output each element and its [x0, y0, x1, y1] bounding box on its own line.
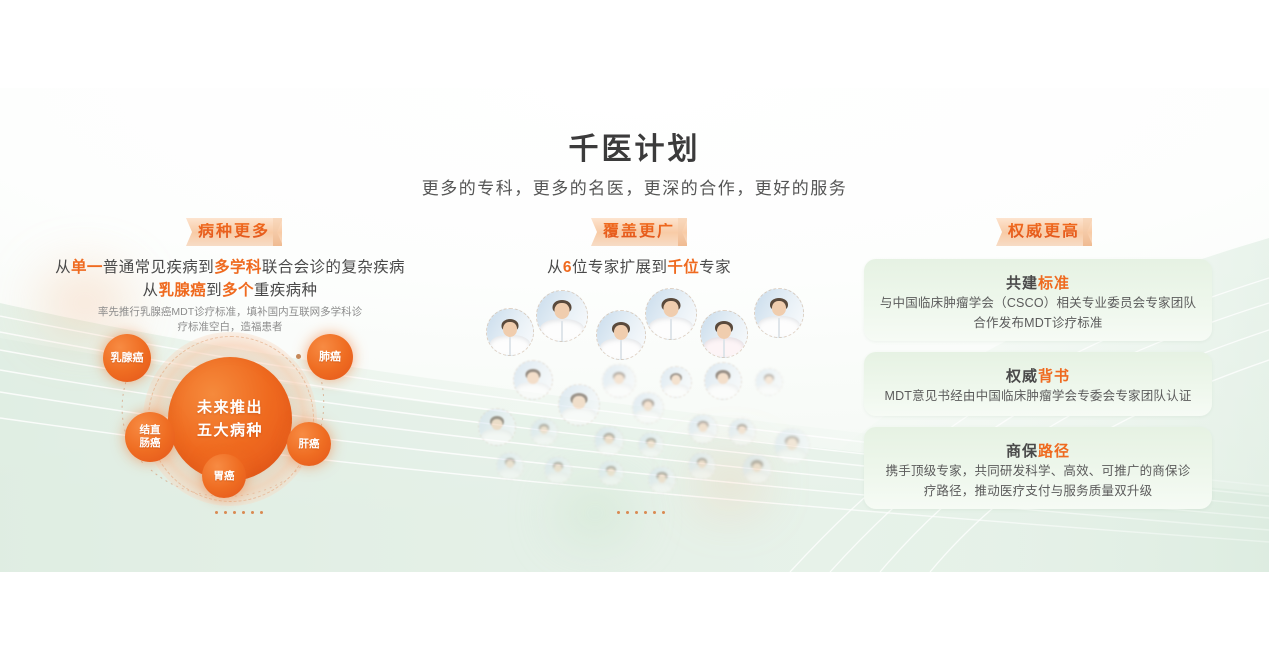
badge-middle: 覆盖更广 [591, 218, 687, 246]
authority-card-standard-title: 共建标准 [864, 272, 1212, 293]
middle-hl-part3: 专家 [699, 259, 731, 276]
disease-node-liver-cancer-label: 肝癌 [299, 438, 320, 451]
doctor-avatar[interactable] [660, 366, 692, 398]
disease-node-colorectal-cancer-label1: 结直 [140, 424, 161, 437]
wheel-center-line1: 未来推出 [197, 396, 263, 419]
doctor-avatar[interactable] [742, 454, 772, 484]
doctor-avatar[interactable] [496, 452, 524, 480]
disease-node-colorectal-cancer-label2: 肠癌 [140, 437, 161, 450]
badge-middle-label: 覆盖更广 [603, 223, 675, 240]
left-hl2-part3: 重疾病种 [254, 282, 318, 299]
disease-node-liver-cancer[interactable]: 肝癌 [287, 422, 331, 466]
authority-card-standard[interactable]: 共建标准 与中国临床肿瘤学会（CSCO）相关专业委员会专家团队 合作发布MDT诊… [864, 259, 1212, 341]
middle-hl-highlight2: 千位 [667, 259, 699, 276]
middle-hl-part1: 从 [547, 259, 563, 276]
doctor-avatar-cluster [460, 280, 820, 512]
doctor-avatar[interactable] [645, 288, 697, 340]
left-hl1-highlight2: 多学科 [214, 259, 262, 276]
authority-card-insurance-path-desc1: 携手顶级专家，共同研发科学、高效、可推广的商保诊 [864, 461, 1212, 481]
disease-node-gastric-cancer[interactable]: 胃癌 [202, 454, 246, 498]
doctor-avatar[interactable] [648, 466, 676, 494]
doctor-avatar[interactable] [638, 432, 664, 458]
middle-headline: 从6位专家扩展到千位专家 [429, 256, 849, 279]
left-hl1-part3: 联合会诊的复杂疾病 [262, 259, 405, 276]
badge-left-label: 病种更多 [198, 223, 270, 240]
disease-node-gastric-cancer-label: 胃癌 [214, 470, 235, 483]
promo-banner: 千医计划 更多的专科，更多的名医，更深的合作，更好的服务 病种更多 从单一普通常… [0, 0, 1269, 664]
ellipsis-middle [617, 511, 665, 514]
disease-node-colorectal-cancer[interactable]: 结直 肠癌 [125, 412, 175, 462]
left-hl2-highlight2: 多个 [222, 282, 254, 299]
doctor-avatar[interactable] [755, 368, 783, 396]
doctor-avatar[interactable] [558, 384, 600, 426]
wheel-dot-5 [296, 354, 301, 359]
doctor-avatar[interactable] [704, 362, 742, 400]
authority-card-endorsement-title: 权威背书 [864, 365, 1212, 386]
doctor-avatar[interactable] [728, 418, 756, 446]
doctor-avatar[interactable] [598, 460, 624, 486]
doctor-avatar[interactable] [688, 414, 718, 444]
badge-right-label: 权威更高 [1008, 223, 1080, 240]
left-hl1-part1: 从 [55, 259, 71, 276]
disease-wheel: 未来推出 五大病种 乳腺癌 肺癌 肝癌 胃癌 结直 肠癌 [95, 330, 365, 515]
page-subtitle: 更多的专科，更多的名医，更深的合作，更好的服务 [0, 174, 1269, 199]
left-headline-line2: 从乳腺癌到多个重疾病种 [20, 279, 440, 302]
authority-card-standard-desc2: 合作发布MDT诊疗标准 [864, 313, 1212, 333]
badge-right: 权威更高 [996, 218, 1092, 246]
left-headline-line1: 从单一普通常见疾病到多学科联合会诊的复杂疾病 [20, 256, 440, 279]
disease-node-breast-cancer[interactable]: 乳腺癌 [103, 334, 151, 382]
disease-node-lung-cancer[interactable]: 肺癌 [307, 334, 353, 380]
left-hl1-highlight1: 单一 [71, 259, 103, 276]
middle-hl-highlight1: 6 [563, 259, 572, 276]
doctor-avatar[interactable] [486, 308, 534, 356]
doctor-avatar[interactable] [754, 288, 804, 338]
authority-card-endorsement-desc1: MDT意见书经由中国临床肿瘤学会专委会专家团队认证 [864, 386, 1212, 406]
left-hl1-part2: 普通常见疾病到 [103, 259, 214, 276]
doctor-avatar[interactable] [478, 408, 516, 446]
disease-node-breast-cancer-label: 乳腺癌 [111, 352, 144, 365]
left-hl2-part1: 从 [143, 282, 159, 299]
authority-card-endorsement[interactable]: 权威背书 MDT意见书经由中国临床肿瘤学会专委会专家团队认证 [864, 352, 1212, 416]
authority-card-standard-desc1: 与中国临床肿瘤学会（CSCO）相关专业委员会专家团队 [864, 293, 1212, 313]
ellipsis-left [215, 511, 263, 514]
doctor-avatar[interactable] [596, 310, 646, 360]
authority-card-insurance-path[interactable]: 商保路径 携手顶级专家，共同研发科学、高效、可推广的商保诊 疗路径，推动医疗支付… [864, 427, 1212, 509]
authority-card-insurance-path-desc2: 疗路径，推动医疗支付与服务质量双升级 [864, 481, 1212, 501]
left-caption-line1: 率先推行乳腺癌MDT诊疗标准，填补国内互联网多学科诊 [80, 305, 380, 320]
doctor-avatar[interactable] [774, 428, 810, 464]
page-title: 千医计划 [0, 124, 1269, 168]
doctor-avatar[interactable] [513, 360, 553, 400]
authority-card-insurance-path-title: 商保路径 [864, 440, 1212, 461]
disease-node-lung-cancer-label: 肺癌 [319, 351, 341, 364]
wheel-center-line2: 五大病种 [197, 419, 263, 442]
left-hl2-part2: 到 [206, 282, 222, 299]
badge-left: 病种更多 [186, 218, 282, 246]
doctor-avatar[interactable] [602, 364, 636, 398]
doctor-avatar[interactable] [594, 426, 624, 456]
doctor-avatar[interactable] [536, 290, 588, 342]
middle-hl-part2: 位专家扩展到 [572, 259, 667, 276]
doctor-avatar[interactable] [688, 452, 716, 480]
doctor-avatar[interactable] [700, 310, 748, 358]
doctor-avatar[interactable] [544, 456, 572, 484]
doctor-avatar[interactable] [530, 418, 558, 446]
left-hl2-highlight1: 乳腺癌 [158, 282, 206, 299]
doctor-avatar[interactable] [632, 392, 664, 424]
